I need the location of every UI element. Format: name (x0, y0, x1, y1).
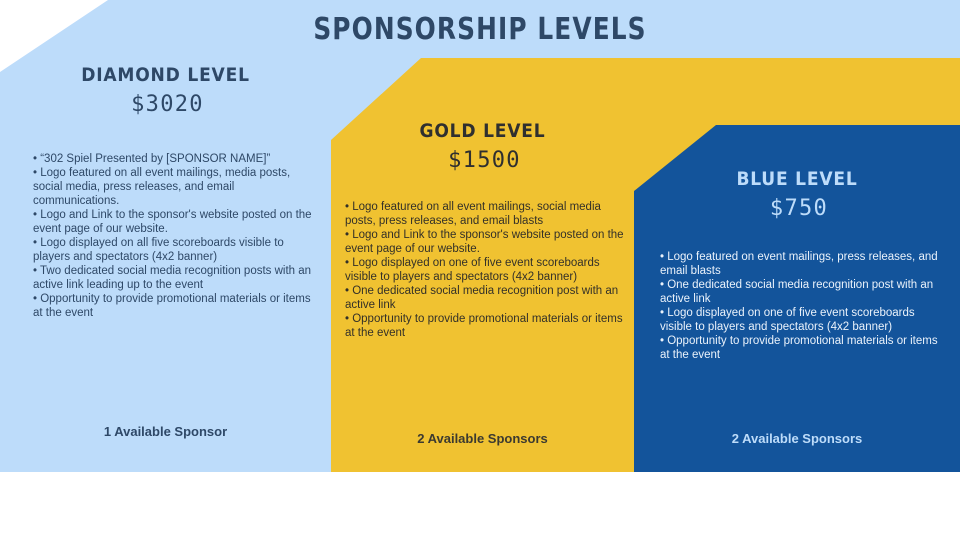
blue-tier-header: BLUE LEVEL $750 (634, 168, 960, 221)
diamond-availability: 1 Available Sponsor (0, 424, 331, 439)
gold-tier-name: GOLD LEVEL (331, 120, 634, 142)
gold-tier-header: GOLD LEVEL $1500 (331, 120, 634, 173)
blue-tier-name: BLUE LEVEL (634, 168, 960, 190)
blue-benefits-list: • Logo featured on event mailings, press… (660, 250, 940, 362)
blue-availability: 2 Available Sponsors (634, 431, 960, 446)
diamond-tier-header: DIAMOND LEVEL $3020 (0, 64, 331, 117)
page-title: SPONSORSHIP LEVELS (38, 12, 921, 47)
diamond-tier-price: $3020 (0, 92, 331, 117)
blue-tier-price: $750 (634, 196, 960, 221)
gold-tier-price: $1500 (331, 148, 634, 173)
gold-benefits-list: • Logo featured on all event mailings, s… (345, 200, 625, 340)
sponsorship-levels-infographic: SPONSORSHIP LEVELS DIAMOND LEVEL $3020 •… (0, 0, 960, 540)
diamond-tier-name: DIAMOND LEVEL (0, 64, 331, 86)
gold-availability: 2 Available Sponsors (331, 431, 634, 446)
diamond-benefits-list: • “302 Spiel Presented by [SPONSOR NAME]… (33, 152, 318, 320)
